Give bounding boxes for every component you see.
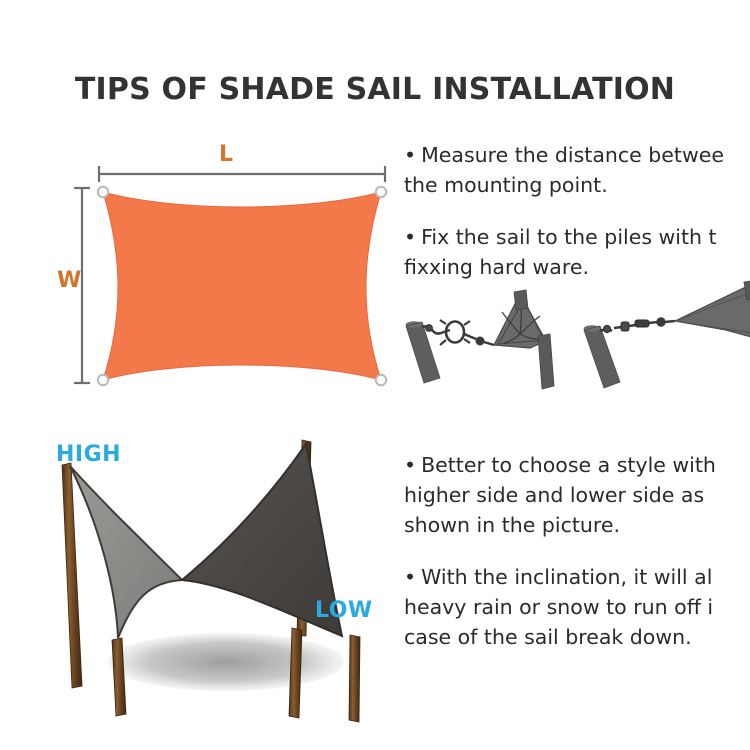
bullet-item: •Fix the sail to the piles with t fixxin…	[404, 222, 750, 282]
bullet-text-line: Better to choose a style with	[421, 453, 716, 477]
bullet-text-line: With the inclination, it will al	[421, 565, 712, 589]
bullet-text-line: heavy rain or snow to run off i	[404, 592, 750, 622]
top-right-content: •Measure the distance betwee the mountin…	[404, 140, 750, 405]
high-label: HIGH	[56, 442, 121, 467]
infographic-page: TIPS OF SHADE SAIL INSTALLATION	[0, 0, 750, 750]
width-label: W	[57, 268, 81, 293]
bullet-item: •Better to choose a style with higher si…	[404, 450, 750, 540]
inclined-sail-svg	[30, 430, 410, 720]
orange-sail-shape	[103, 192, 381, 380]
grommet-icon	[98, 187, 108, 197]
bullet-dot-icon: •	[404, 140, 416, 170]
sail-light	[70, 466, 182, 638]
bullet-text-line: shown in the picture.	[404, 510, 750, 540]
sail-corner-wedge	[675, 284, 750, 340]
bullet-item: •Measure the distance betwee the mountin…	[404, 140, 750, 200]
ground-shadow	[108, 633, 344, 691]
grommet-icon	[376, 187, 386, 197]
bullet-text-line: Measure the distance betwee	[421, 143, 724, 167]
bottom-right-content: •Better to choose a style with higher si…	[404, 450, 750, 665]
carabiner-chain-icon	[600, 318, 675, 333]
bullet-item: •With the inclination, it will al heavy …	[404, 562, 750, 652]
bottom-bullet-list: •Better to choose a style with higher si…	[404, 450, 750, 652]
grommet-icon	[376, 375, 386, 385]
low-label: LOW	[315, 598, 373, 623]
grommet-icon	[98, 375, 108, 385]
post-icon	[584, 325, 620, 388]
inclined-sail-diagram: HIGH LOW	[30, 430, 410, 720]
bullet-text-line: fixxing hard ware.	[404, 252, 750, 282]
bullet-dot-icon: •	[404, 450, 416, 480]
shade-sail-dimension-diagram: L W	[55, 140, 400, 405]
bullet-dot-icon: •	[404, 222, 416, 252]
bullet-dot-icon: •	[404, 562, 416, 592]
post-icon	[406, 321, 440, 383]
bullet-text-line: case of the sail break down.	[404, 622, 750, 652]
sail-svg	[55, 140, 400, 405]
bullet-text-line: higher side and lower side as	[404, 480, 750, 510]
bullet-text-line: the mounting point.	[404, 170, 750, 200]
page-title: TIPS OF SHADE SAIL INSTALLATION	[0, 72, 750, 107]
bullet-text-line: Fix the sail to the piles with t	[421, 225, 716, 249]
length-dimension-line	[99, 166, 385, 182]
post-back-left	[62, 463, 82, 688]
top-bullet-list: •Measure the distance betwee the mountin…	[404, 140, 750, 282]
hardware-post-turnbuckle-sail-left	[406, 290, 554, 389]
post-low-right	[349, 635, 360, 722]
length-label: L	[219, 142, 233, 167]
hardware-illustrations	[398, 282, 750, 400]
sail-figure: L W	[55, 140, 400, 405]
turnbuckle-icon	[422, 320, 494, 345]
hardware-post-carabiner-sail-right	[584, 280, 750, 388]
